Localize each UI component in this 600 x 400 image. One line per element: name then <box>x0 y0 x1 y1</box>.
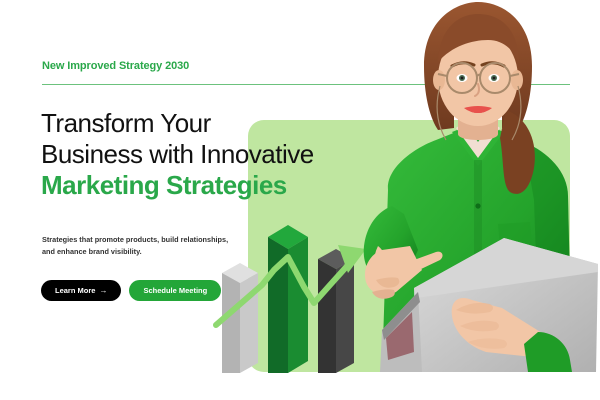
page-title: Transform Your Business with Innovative … <box>41 108 371 201</box>
description-line-1: Strategies that promote products, build … <box>42 234 237 246</box>
headline-accent: Marketing Strategies <box>41 170 371 201</box>
cta-button-group: Learn More → Schedule Meeting <box>41 280 221 301</box>
learn-more-label: Learn More <box>55 286 95 295</box>
eyebrow-text: New Improved Strategy 2030 <box>42 60 189 72</box>
description-line-2: and enhance brand visibility. <box>42 246 237 258</box>
person-photo <box>352 0 600 372</box>
chart-bar-2 <box>268 225 308 373</box>
hero-description: Strategies that promote products, build … <box>42 234 237 257</box>
arrow-right-icon: → <box>99 287 107 295</box>
learn-more-button[interactable]: Learn More → <box>41 280 121 301</box>
hero-banner: New Improved Strategy 2030 <box>0 0 600 400</box>
headline-line-1: Transform Your <box>41 108 371 139</box>
schedule-meeting-label: Schedule Meeting <box>143 286 207 295</box>
schedule-meeting-button[interactable]: Schedule Meeting <box>129 280 221 301</box>
headline-line-2: Business with Innovative <box>41 139 371 170</box>
